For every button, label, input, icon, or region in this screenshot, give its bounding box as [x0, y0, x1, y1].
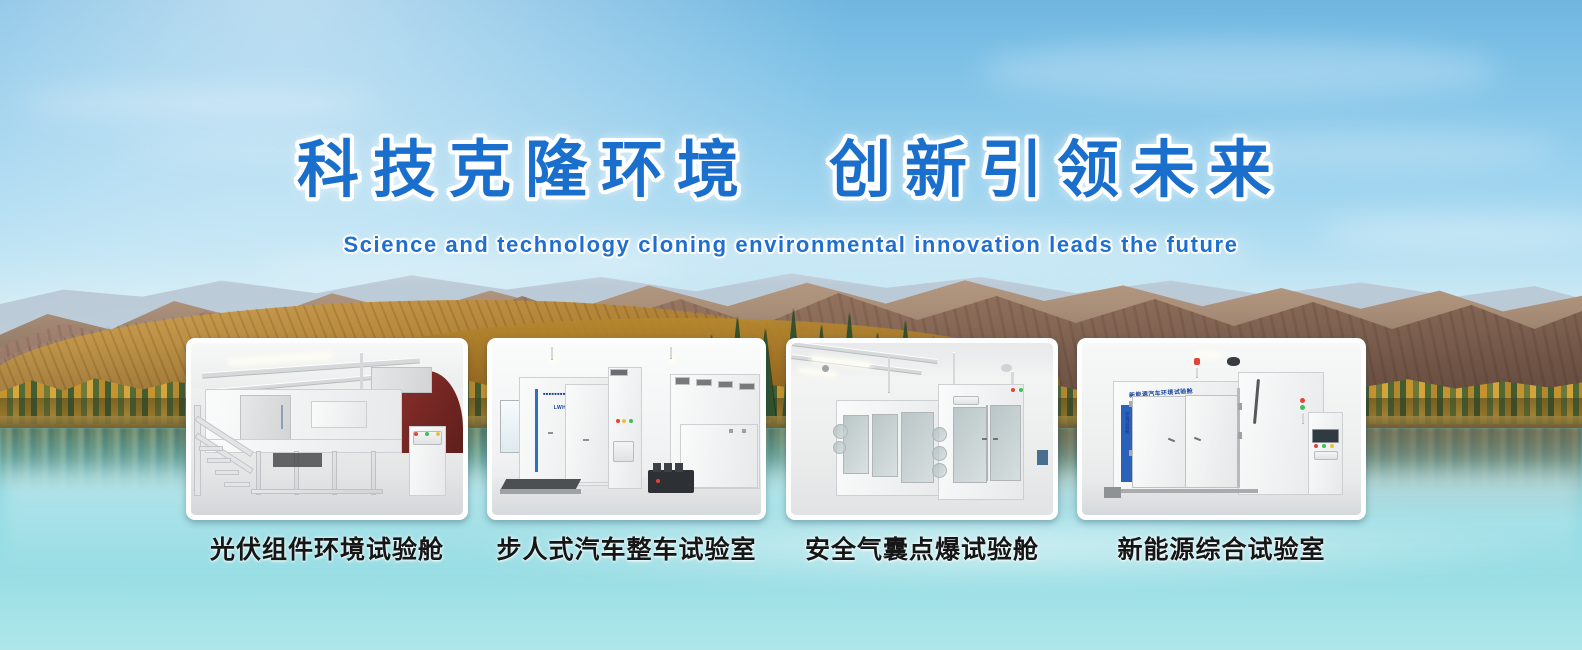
product-card[interactable]: 新能源汽车环境试验舱 环境试验舱 [1077, 338, 1366, 520]
card-caption: 安全气囊点爆试验舱 [786, 530, 1058, 566]
card-caption: 光伏组件环境试验舱 [186, 530, 468, 566]
photovoltaic-module-environmental-test-chamber-photo [191, 343, 463, 515]
product-card[interactable] [786, 338, 1058, 520]
walk-in-vehicle-test-laboratory-photo: ■■■■■■■■ LWHL-100 [492, 343, 761, 515]
new-energy-comprehensive-laboratory-photo: 新能源汽车环境试验舱 环境试验舱 [1082, 343, 1361, 515]
card-caption: 新能源综合试验室 [1077, 530, 1366, 566]
airbag-detonation-test-chamber-photo [791, 343, 1053, 515]
product-card[interactable] [186, 338, 468, 520]
promotional-banner: 科技克隆环境 创新引领未来 Science and technology clo… [0, 0, 1582, 650]
caption-row: 光伏组件环境试验舱 步人式汽车整车试验室 安全气囊点爆试验舱 新能源综合试验室 [0, 530, 1582, 590]
product-card[interactable]: ■■■■■■■■ LWHL-100 [487, 338, 766, 520]
card-caption: 步人式汽车整车试验室 [487, 530, 766, 566]
product-photo-gallery: ■■■■■■■■ LWHL-100 [0, 338, 1582, 528]
